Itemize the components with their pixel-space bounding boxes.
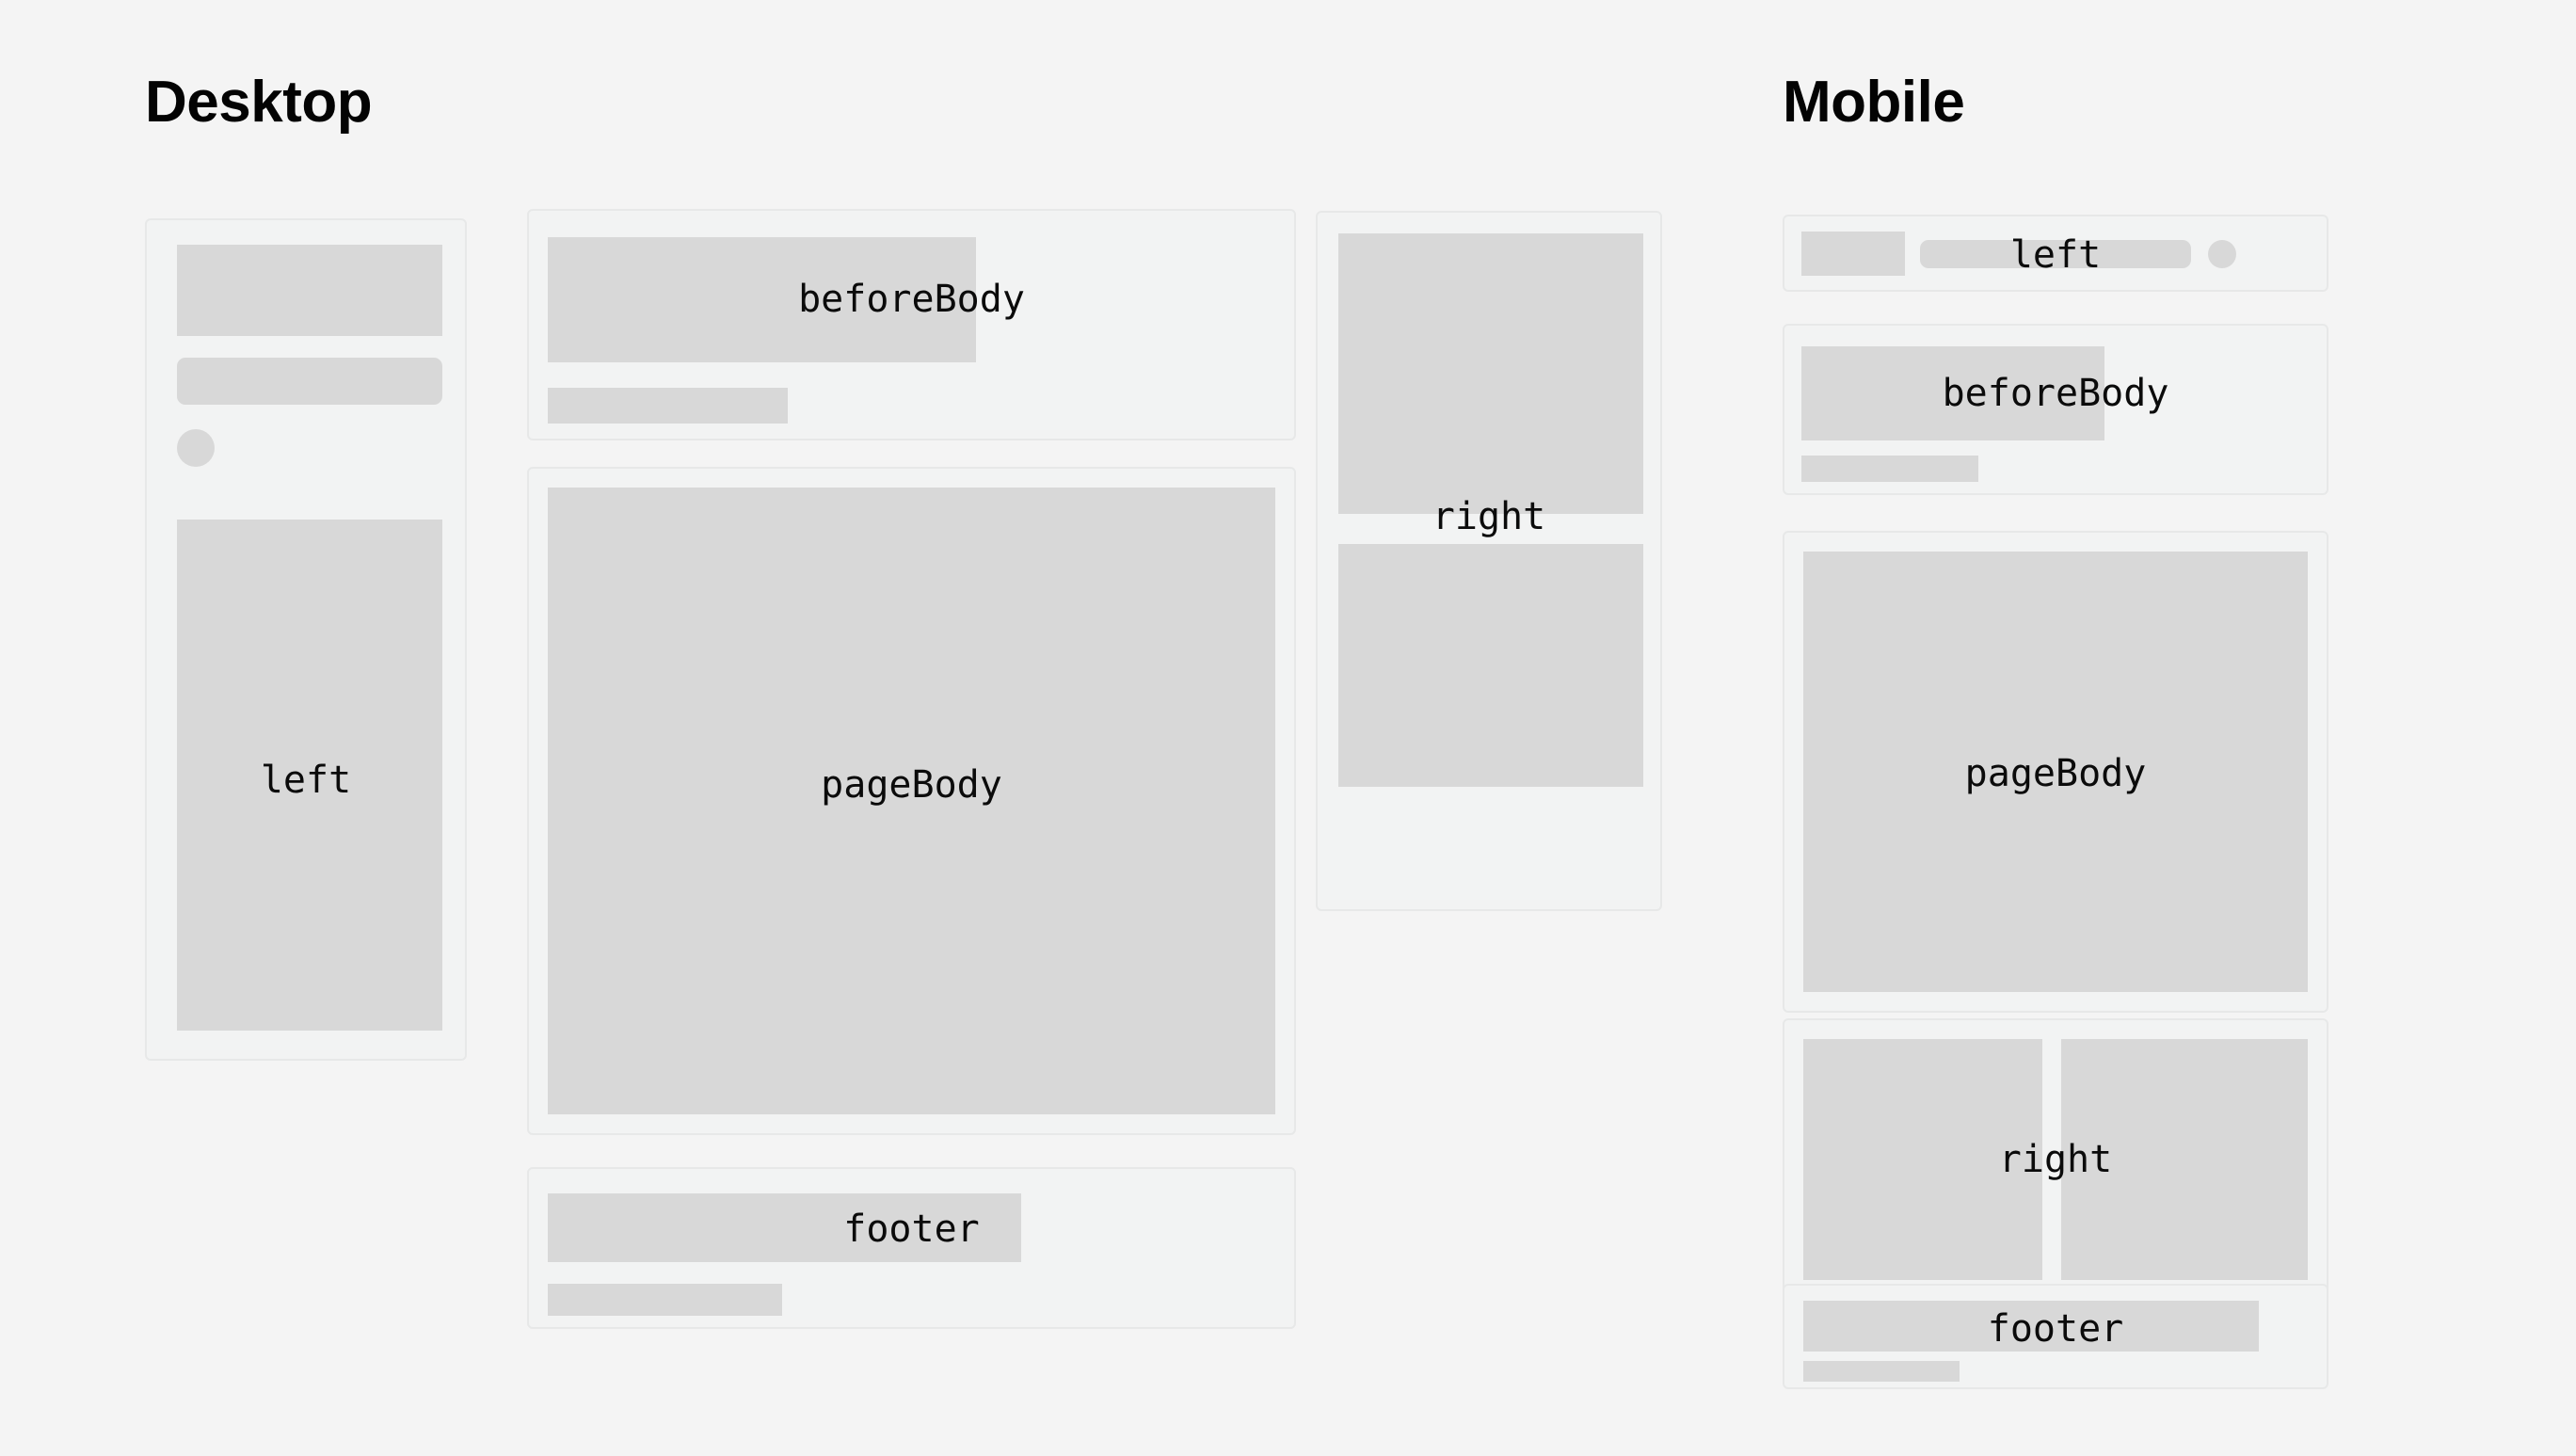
placeholder-block — [1803, 552, 2308, 992]
desktop-right-panel[interactable]: right — [1316, 211, 1662, 911]
placeholder-block — [548, 488, 1275, 1114]
mobile-before-body-panel[interactable]: beforeBody — [1783, 324, 2328, 495]
placeholder-avatar-circle — [177, 429, 215, 467]
placeholder-bar — [548, 1284, 782, 1316]
placeholder-block — [2061, 1039, 2308, 1280]
layout-preview-canvas: Desktop left beforeBody pageBody footer … — [0, 0, 2576, 1456]
desktop-page-body-panel[interactable]: pageBody — [527, 467, 1296, 1135]
placeholder-bar — [548, 1193, 1021, 1262]
placeholder-bar — [548, 388, 788, 424]
placeholder-bar — [1803, 1301, 2259, 1352]
mobile-page-body-panel[interactable]: pageBody — [1783, 531, 2328, 1013]
placeholder-avatar-circle — [2208, 240, 2236, 268]
desktop-section-title: Desktop — [145, 73, 372, 132]
placeholder-bar — [1803, 1361, 1960, 1382]
placeholder-block — [177, 245, 442, 336]
placeholder-block — [1338, 233, 1643, 514]
placeholder-block — [1801, 346, 2104, 440]
mobile-right-panel[interactable]: right — [1783, 1018, 2328, 1297]
placeholder-block — [1801, 232, 1905, 276]
placeholder-block — [1338, 544, 1643, 787]
placeholder-bar — [1801, 456, 1978, 482]
placeholder-block — [1803, 1039, 2042, 1280]
placeholder-block — [548, 237, 976, 362]
desktop-before-body-panel[interactable]: beforeBody — [527, 209, 1296, 440]
placeholder-bar — [1920, 240, 2191, 268]
mobile-left-panel[interactable]: left — [1783, 215, 2328, 292]
placeholder-bar — [177, 358, 442, 405]
mobile-footer-panel[interactable]: footer — [1783, 1284, 2328, 1389]
mobile-section-title: Mobile — [1783, 73, 1964, 132]
desktop-footer-panel[interactable]: footer — [527, 1167, 1296, 1329]
placeholder-block — [177, 520, 442, 1031]
desktop-left-panel[interactable]: left — [145, 218, 467, 1061]
